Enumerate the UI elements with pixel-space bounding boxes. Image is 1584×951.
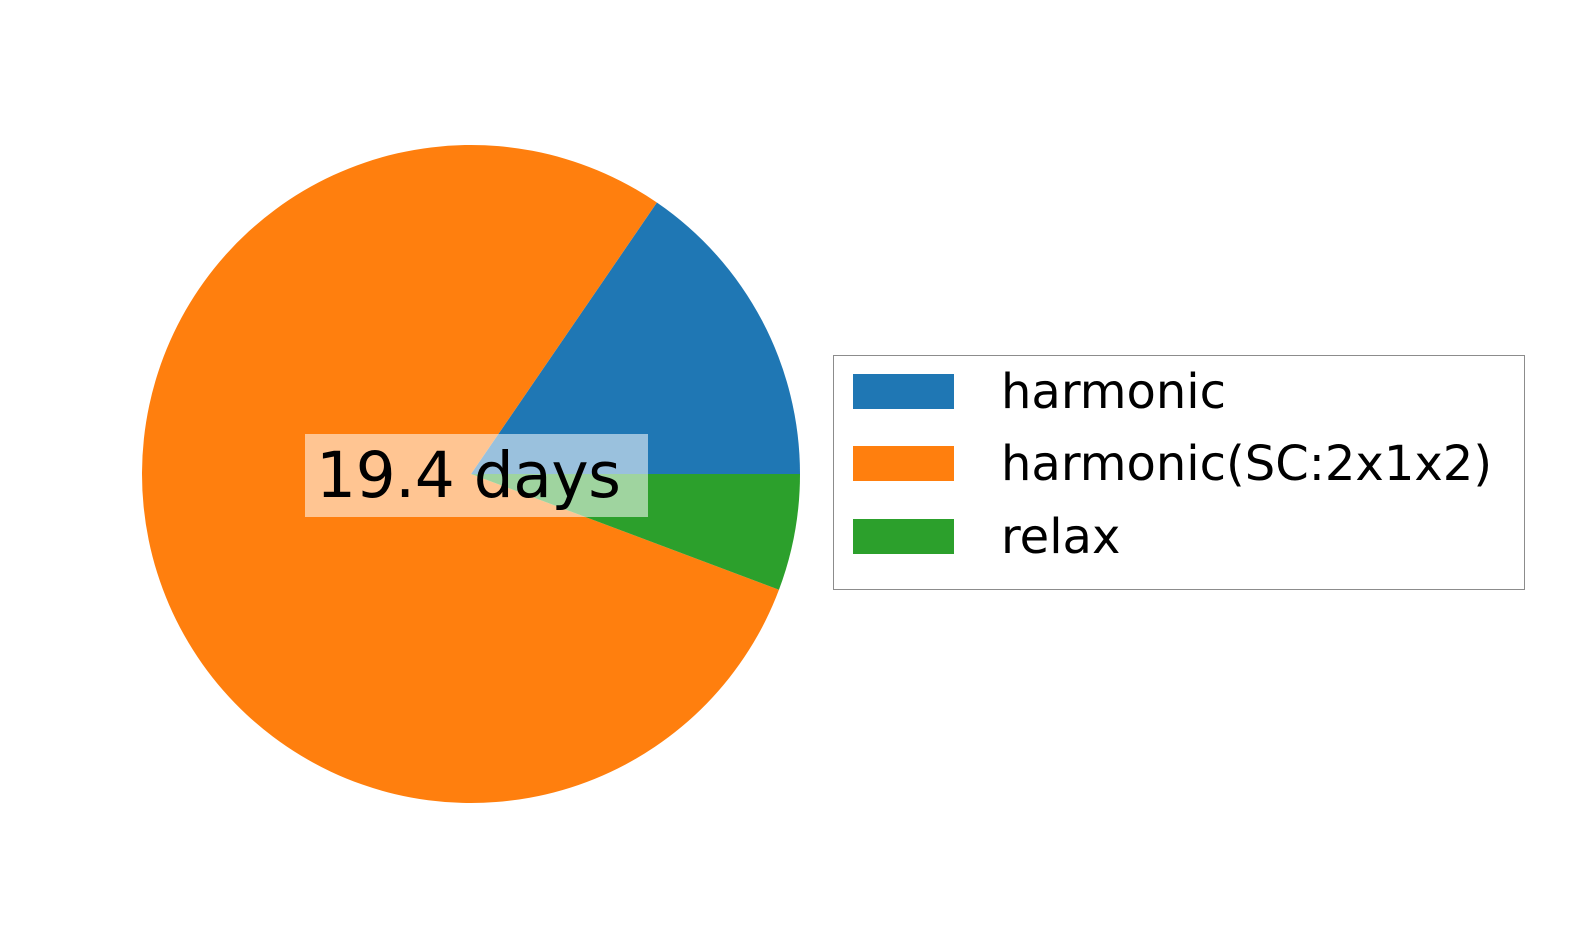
legend-swatch-harmonic bbox=[853, 374, 954, 409]
pie-center-annotation: 19.4 days bbox=[305, 434, 648, 517]
chart-legend: harmonic harmonic(SC:2x1x2) relax bbox=[833, 355, 1525, 590]
legend-item-harmonic-sc[interactable]: harmonic(SC:2x1x2) bbox=[853, 441, 1492, 486]
legend-swatch-harmonic-sc bbox=[853, 446, 954, 481]
legend-item-relax[interactable]: relax bbox=[853, 514, 1120, 559]
legend-label-harmonic-sc: harmonic(SC:2x1x2) bbox=[1001, 440, 1492, 488]
legend-item-harmonic[interactable]: harmonic bbox=[853, 369, 1226, 414]
pie-chart-figure: 19.4 days harmonic harmonic(SC:2x1x2) re… bbox=[0, 0, 1584, 951]
legend-swatch-relax bbox=[853, 519, 954, 554]
legend-label-harmonic: harmonic bbox=[1001, 368, 1226, 416]
legend-label-relax: relax bbox=[1001, 513, 1120, 561]
pie-center-value-text: 19.4 days bbox=[316, 444, 621, 507]
